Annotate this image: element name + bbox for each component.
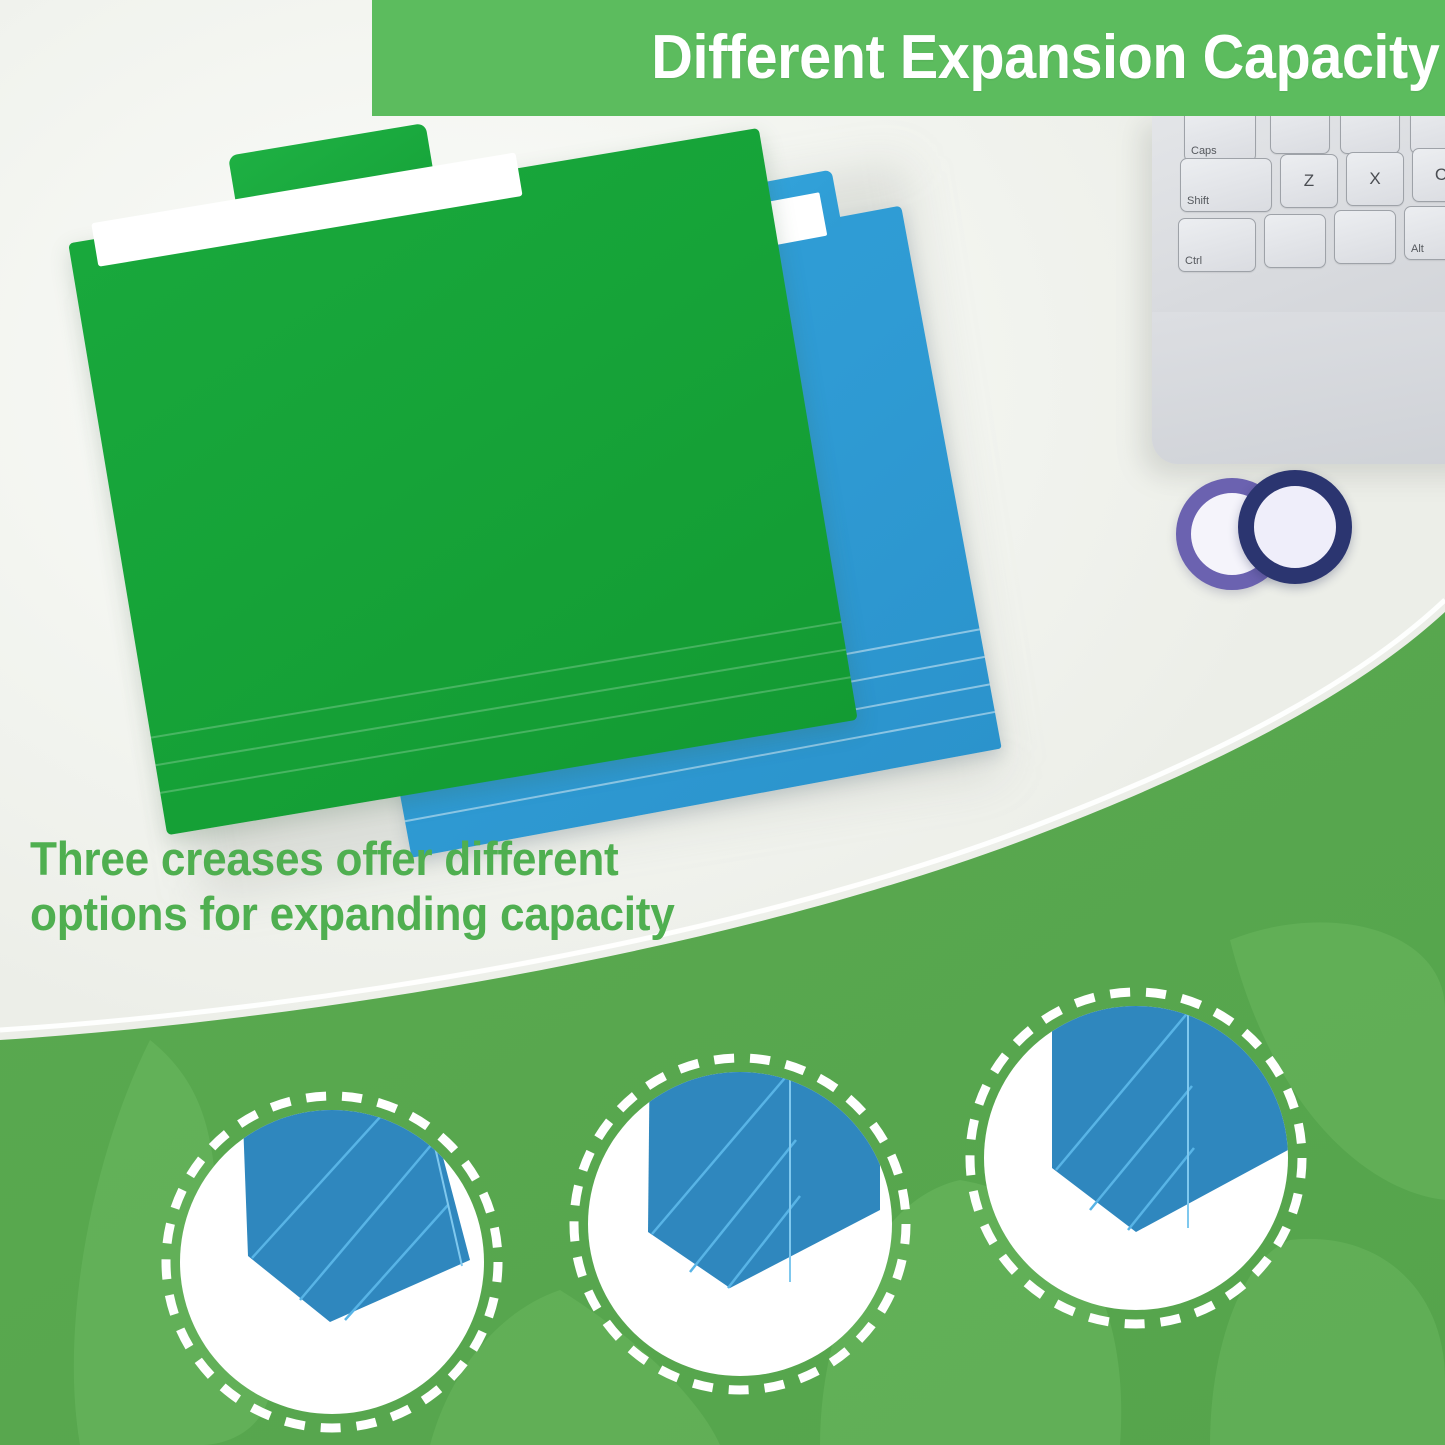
- product-infographic: Caps Shift Z X C Ctrl Alt: [0, 0, 1445, 1445]
- key-fn: [1264, 214, 1326, 268]
- subtitle-text: Three creases offer different options fo…: [30, 832, 810, 942]
- crease-2-line-2: [690, 1140, 796, 1272]
- key-ctrl: Ctrl: [1178, 218, 1256, 272]
- detail-circle-crease-1: [166, 1070, 498, 1428]
- crease-1-line-3: [345, 1205, 448, 1320]
- crease-2-dashed-ring: [574, 1058, 906, 1390]
- crease-1-fold-edge: [418, 1072, 462, 1266]
- key-alt: Alt: [1404, 206, 1445, 260]
- bg-blob-5: [1210, 1239, 1445, 1445]
- crease-2-line-1: [652, 1072, 790, 1234]
- navy-tape-roll: [1238, 470, 1352, 584]
- crease-1-illustration: [242, 1070, 470, 1322]
- crease-2-line-3: [728, 1196, 800, 1288]
- silver-laptop: Caps Shift Z X C Ctrl Alt: [1152, 112, 1445, 464]
- crease-1-line-2: [300, 1144, 432, 1300]
- green-file-folder: [58, 69, 857, 835]
- key-caps: Caps: [1184, 108, 1256, 162]
- crease-1-dashed-ring: [166, 1096, 498, 1428]
- laptop-palmrest: [1152, 312, 1445, 464]
- key-z: Z: [1280, 154, 1338, 208]
- header-banner: Different Expansion Capacity: [372, 0, 1445, 116]
- crease-2-disc: [588, 1072, 892, 1376]
- green-crease-1: [151, 621, 842, 738]
- crease-3-line-3: [1128, 1148, 1194, 1230]
- crease-3-line-2: [1090, 1086, 1192, 1210]
- crease-1-line-1: [252, 1073, 420, 1258]
- bg-blob-3: [820, 1180, 1121, 1445]
- bg-blob-1: [74, 1040, 271, 1445]
- key-shift: Shift: [1180, 158, 1272, 212]
- crease-1-folder-shape: [242, 1070, 470, 1322]
- banner-title: Different Expansion Capacity: [651, 27, 1439, 89]
- key-win: [1334, 210, 1396, 264]
- key-x: X: [1346, 152, 1404, 206]
- bg-blob-2: [430, 1290, 720, 1445]
- crease-1-disc: [180, 1110, 484, 1414]
- key-c: C: [1412, 148, 1445, 202]
